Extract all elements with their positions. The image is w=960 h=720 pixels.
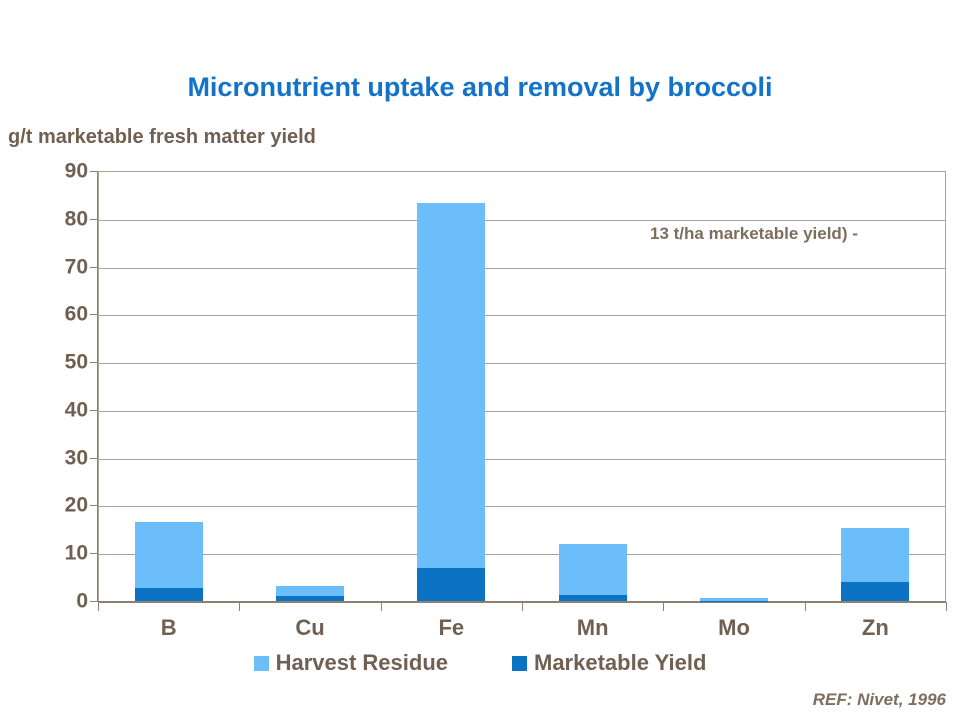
bar-segment-b-marketable-yield[interactable] bbox=[135, 588, 203, 601]
x-tick-1 bbox=[239, 602, 240, 611]
gridline-70 bbox=[99, 268, 945, 269]
y-tick-label-70: 70 bbox=[10, 256, 88, 277]
bar-mo[interactable] bbox=[700, 598, 768, 601]
bar-cu[interactable] bbox=[276, 586, 344, 601]
y-tick-label-0: 0 bbox=[10, 591, 88, 612]
x-tick-0 bbox=[98, 602, 99, 611]
bar-segment-mn-harvest-residue[interactable] bbox=[559, 544, 627, 595]
bar-segment-zn-marketable-yield[interactable] bbox=[841, 582, 909, 601]
plot-annotation: 13 t/ha marketable yield) - bbox=[650, 224, 858, 244]
reference-note: REF: Nivet, 1996 bbox=[813, 690, 946, 710]
legend-item-harvest-residue[interactable]: Harvest Residue bbox=[254, 650, 448, 676]
bar-zn[interactable] bbox=[841, 528, 909, 601]
chart-title: Micronutrient uptake and removal by broc… bbox=[0, 72, 960, 103]
y-tick-60 bbox=[90, 314, 98, 315]
y-tick-0 bbox=[90, 601, 98, 602]
bar-segment-zn-harvest-residue[interactable] bbox=[841, 528, 909, 582]
y-tick-40 bbox=[90, 410, 98, 411]
x-axis-label-mo: Mo bbox=[718, 615, 750, 641]
x-axis-label-fe: Fe bbox=[438, 615, 464, 641]
legend-swatch-icon bbox=[512, 656, 527, 671]
x-tick-4 bbox=[663, 602, 664, 611]
gridline-50 bbox=[99, 363, 945, 364]
x-tick-3 bbox=[522, 602, 523, 611]
legend-swatch-icon bbox=[254, 656, 269, 671]
y-axis-line bbox=[97, 171, 98, 602]
gridline-20 bbox=[99, 506, 945, 507]
gridline-30 bbox=[99, 459, 945, 460]
y-tick-90 bbox=[90, 171, 98, 172]
y-tick-label-40: 40 bbox=[10, 399, 88, 420]
bar-fe[interactable] bbox=[417, 203, 485, 601]
y-tick-80 bbox=[90, 219, 98, 220]
x-axis-label-cu: Cu bbox=[295, 615, 324, 641]
y-tick-label-80: 80 bbox=[10, 208, 88, 229]
gridline-60 bbox=[99, 315, 945, 316]
y-tick-label-20: 20 bbox=[10, 495, 88, 516]
chart-legend: Harvest ResidueMarketable Yield bbox=[0, 650, 960, 676]
x-axis-label-b: B bbox=[161, 615, 177, 641]
y-tick-70 bbox=[90, 267, 98, 268]
x-axis-label-zn: Zn bbox=[862, 615, 889, 641]
bar-segment-mn-marketable-yield[interactable] bbox=[559, 595, 627, 601]
x-axis-label-mn: Mn bbox=[577, 615, 609, 641]
y-tick-label-50: 50 bbox=[10, 352, 88, 373]
legend-item-marketable-yield[interactable]: Marketable Yield bbox=[512, 650, 706, 676]
y-axis-labels: 9080706050403020100 bbox=[0, 0, 88, 720]
bar-segment-cu-harvest-residue[interactable] bbox=[276, 586, 344, 596]
bar-b[interactable] bbox=[135, 522, 203, 601]
y-tick-30 bbox=[90, 458, 98, 459]
x-tick-6 bbox=[946, 602, 947, 611]
bar-segment-cu-marketable-yield[interactable] bbox=[276, 596, 344, 601]
y-tick-label-30: 30 bbox=[10, 447, 88, 468]
legend-label: Harvest Residue bbox=[276, 650, 448, 676]
bar-segment-mo-harvest-residue[interactable] bbox=[700, 598, 768, 600]
bar-mn[interactable] bbox=[559, 544, 627, 601]
bar-segment-b-harvest-residue[interactable] bbox=[135, 522, 203, 588]
legend-label: Marketable Yield bbox=[534, 650, 706, 676]
y-tick-10 bbox=[90, 553, 98, 554]
y-tick-20 bbox=[90, 505, 98, 506]
chart-container: Micronutrient uptake and removal by broc… bbox=[0, 0, 960, 720]
gridline-80 bbox=[99, 220, 945, 221]
y-tick-label-10: 10 bbox=[10, 543, 88, 564]
x-tick-5 bbox=[805, 602, 806, 611]
y-tick-label-90: 90 bbox=[10, 161, 88, 182]
y-tick-label-60: 60 bbox=[10, 304, 88, 325]
y-tick-50 bbox=[90, 362, 98, 363]
bar-segment-fe-marketable-yield[interactable] bbox=[417, 568, 485, 601]
bar-segment-fe-harvest-residue[interactable] bbox=[417, 203, 485, 568]
gridline-40 bbox=[99, 411, 945, 412]
gridline-10 bbox=[99, 554, 945, 555]
x-tick-2 bbox=[381, 602, 382, 611]
